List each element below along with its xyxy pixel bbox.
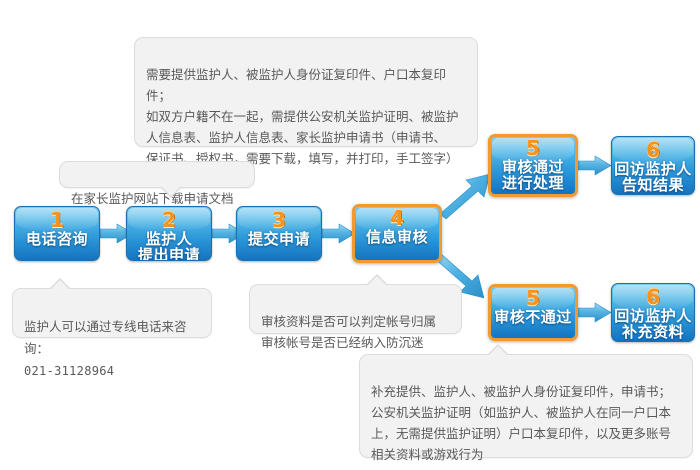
arrow-n5b-n6b bbox=[578, 303, 611, 322]
flow-node-6-notify[interactable]: 6 回访监护人 告知结果 bbox=[611, 136, 695, 195]
flow-node-5-rejected[interactable]: 5 审核不通过 bbox=[488, 284, 578, 341]
flow-node-1-label: 电话咨询 bbox=[26, 231, 88, 247]
flow-node-4-number: 4 bbox=[390, 208, 404, 228]
flow-node-5-rejected-number: 5 bbox=[526, 288, 540, 308]
note-supplement-documents-text: 补充提供、监护人、被监护人身份证复印件，申请书； 公安机关监护证明（如监护人、被… bbox=[371, 384, 671, 462]
flow-node-1[interactable]: 1 电话咨询 bbox=[14, 206, 100, 261]
note-supplement-documents-tail-inner bbox=[488, 346, 508, 356]
flow-node-5-approved-number: 5 bbox=[526, 138, 540, 158]
arrow-n5a-n6a bbox=[578, 156, 611, 175]
note-review-criteria-tail-inner bbox=[367, 276, 387, 286]
note-required-documents-text: 需要提供监护人、被监护人身份证复印件、户口本复印件； 如双方户籍不在一起，需提供… bbox=[146, 67, 459, 166]
note-hotline: 监护人可以通过专线电话来咨询： 021-31128964 bbox=[12, 288, 212, 338]
note-download-application: 在家长监护网站下载申请文档 bbox=[59, 161, 255, 188]
flow-node-1-number: 1 bbox=[50, 210, 64, 230]
note-review-criteria-text: 审核资料是否可以判定帐号归属 审核帐号是否已经纳入防沉迷 bbox=[261, 314, 436, 350]
note-hotline-tail-inner bbox=[50, 280, 70, 290]
note-hotline-phone: 021-31128964 bbox=[24, 364, 114, 378]
flow-node-3-number: 3 bbox=[272, 210, 286, 230]
flow-node-2[interactable]: 2 监护人 提出申请 bbox=[126, 206, 212, 261]
flow-node-6-supplement-label: 回访监护人 补充资料 bbox=[614, 308, 692, 340]
flow-node-5-approved-label: 审核通过 进行处理 bbox=[502, 159, 564, 191]
note-required-documents: 需要提供监护人、被监护人身份证复印件、户口本复印件； 如双方户籍不在一起，需提供… bbox=[134, 37, 478, 147]
flow-node-4-label: 信息审核 bbox=[366, 229, 428, 245]
flowchart-diagram: 1 电话咨询 2 监护人 提出申请 3 提交申请 4 信息审核 5 审核通过 进… bbox=[0, 0, 700, 470]
flow-node-3[interactable]: 3 提交申请 bbox=[236, 206, 322, 261]
note-supplement-documents: 补充提供、监护人、被监护人身份证复印件，申请书； 公安机关监护证明（如监护人、被… bbox=[359, 354, 693, 458]
flow-node-5-approved[interactable]: 5 审核通过 进行处理 bbox=[488, 134, 578, 197]
note-review-criteria: 审核资料是否可以判定帐号归属 审核帐号是否已经纳入防沉迷 bbox=[249, 284, 462, 334]
flow-node-2-number: 2 bbox=[162, 210, 176, 230]
note-hotline-text: 监护人可以通过专线电话来咨询： bbox=[24, 319, 187, 356]
flow-node-3-label: 提交申请 bbox=[248, 231, 310, 247]
flow-node-6-notify-label: 回访监护人 告知结果 bbox=[614, 161, 692, 193]
arrow-n3-n4 bbox=[322, 224, 355, 243]
note-download-application-tail-inner bbox=[161, 186, 181, 196]
flow-node-6-supplement[interactable]: 6 回访监护人 补充资料 bbox=[611, 283, 695, 342]
flow-node-4[interactable]: 4 信息审核 bbox=[352, 204, 442, 263]
flow-node-2-label: 监护人 提出申请 bbox=[138, 231, 200, 261]
flow-node-5-rejected-label: 审核不通过 bbox=[494, 309, 572, 325]
flow-node-6-supplement-number: 6 bbox=[646, 287, 660, 307]
note-download-application-text: 在家长监护网站下载申请文档 bbox=[71, 191, 234, 206]
arrow-n4-n5a bbox=[440, 174, 490, 219]
flow-node-6-notify-number: 6 bbox=[646, 140, 660, 160]
